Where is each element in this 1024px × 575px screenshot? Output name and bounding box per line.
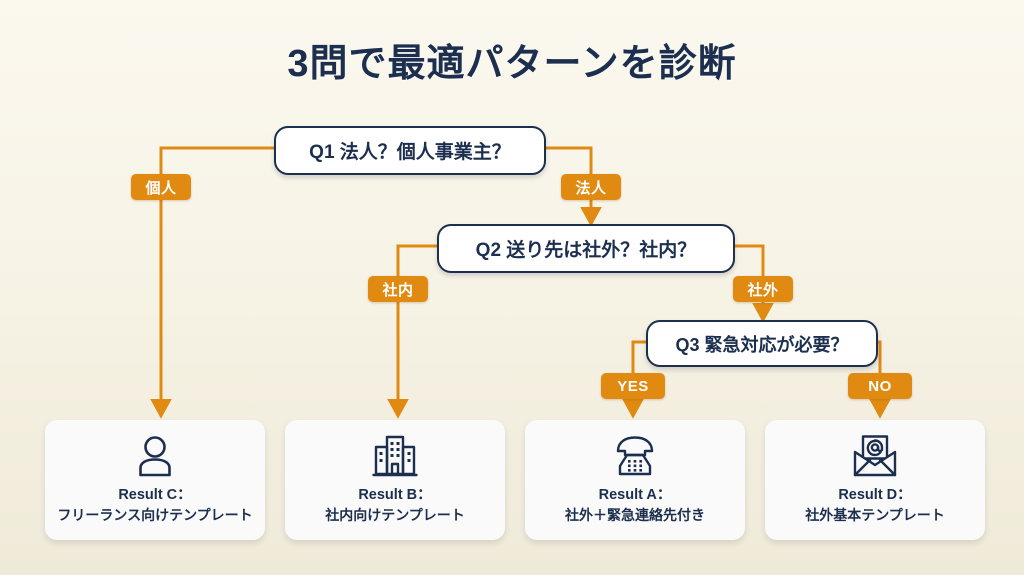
telephone-icon (611, 433, 659, 479)
result-card-d[interactable]: Result D： 社外基本テンプレート (765, 420, 985, 540)
question-node-q1[interactable]: Q1 法人？個人事業主？ (274, 126, 546, 175)
edge-label-no: NO (848, 373, 912, 399)
question-node-q2[interactable]: Q2 送り先は社外？社内？ (437, 224, 735, 273)
result-card-a[interactable]: Result A： 社外＋緊急連絡先付き (525, 420, 745, 540)
email-envelope-icon (851, 433, 899, 479)
result-card-title: Result C： (118, 488, 191, 503)
edge-label-kojin: 個人 (131, 174, 191, 200)
result-card-title: Result D： (838, 488, 911, 503)
edge-label-shagai: 社外 (733, 276, 793, 302)
edge-label-shanai: 社内 (368, 276, 428, 302)
result-card-subtitle: フリーランス向けテンプレート (57, 508, 252, 523)
edge-q3-yes (633, 342, 646, 375)
building-icon (372, 433, 418, 479)
edge-q2-shanai (398, 246, 437, 278)
result-card-subtitle: 社外基本テンプレート (805, 508, 945, 523)
result-card-subtitle: 社外＋緊急連絡先付き (565, 508, 705, 523)
result-card-subtitle: 社内向けテンプレート (325, 508, 465, 523)
edge-q2-shagai (731, 246, 763, 278)
result-card-title: Result B： (358, 488, 431, 503)
flowchart-canvas: 3問で最適パターンを診断 Q1 (0, 0, 1024, 575)
edge-label-yes: YES (601, 373, 665, 399)
person-icon (135, 433, 175, 479)
result-card-title: Result A： (599, 488, 672, 503)
result-card-c[interactable]: Result C： フリーランス向けテンプレート (45, 420, 265, 540)
question-node-q3[interactable]: Q3 緊急対応が必要？ (646, 320, 878, 367)
edge-q1-kojin (161, 148, 274, 176)
result-card-b[interactable]: Result B： 社内向けテンプレート (285, 420, 505, 540)
edge-label-hojin: 法人 (561, 174, 621, 200)
edge-q1-hojin (542, 148, 591, 176)
